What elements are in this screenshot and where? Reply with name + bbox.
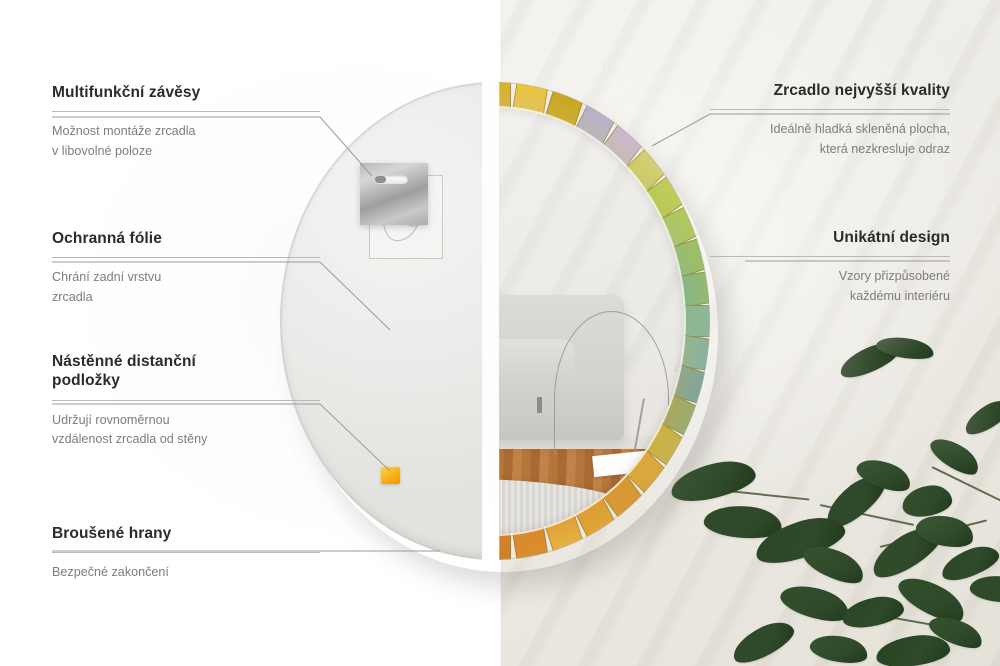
callout-body-line-2: v libovolné poloze xyxy=(52,142,320,162)
callout-body-line-2: vzdálenost zrcadla od stěny xyxy=(52,430,320,450)
callout-body-line-2: každému interiéru xyxy=(710,287,950,307)
callout-body-line-1: Chrání zadní vrstvu xyxy=(52,268,320,288)
callout-title: Ochranná fólie xyxy=(52,229,320,248)
callout-rule xyxy=(52,400,320,401)
callout-title: Zrcadlo nejvyšší kvality xyxy=(710,81,950,100)
wall-hanger-plate-icon xyxy=(360,163,428,225)
hanger-keyhole-slot xyxy=(374,175,408,184)
callout-body-line-1: Bezpečné zakončení xyxy=(52,563,320,583)
callout-title: Unikátní design xyxy=(710,228,950,247)
callout-ground-edges: Broušené hrany Bezpečné zakončení xyxy=(52,524,320,583)
callout-title: Multifunkční závěsy xyxy=(52,83,320,102)
callout-rule xyxy=(52,552,320,553)
callout-protective-foil: Ochranná fólie Chrání zadní vrstvu zrcad… xyxy=(52,229,320,307)
callout-title: Nástěnné distanční podložky xyxy=(52,352,320,391)
infographic-canvas: Multifunkční závěsy Možnost montáže zrca… xyxy=(0,0,1000,666)
callout-body-line-1: Možnost montáže zrcadla xyxy=(52,122,320,142)
callout-body-line-2: zrcadla xyxy=(52,288,320,308)
spacer-pad-icon xyxy=(381,467,400,484)
callout-spacers: Nástěnné distanční podložky Udržují rovn… xyxy=(52,352,320,450)
product-mirror xyxy=(280,82,710,560)
callout-title-line-2: podložky xyxy=(52,372,120,389)
callout-title-line-1: Nástěnné distanční xyxy=(52,353,196,370)
callout-body-line-1: Udržují rovnoměrnou xyxy=(52,411,320,431)
callout-quality-mirror: Zrcadlo nejvyšší kvality Ideálně hladká … xyxy=(710,81,950,159)
callout-unique-design: Unikátní design Vzory přizpůsobené každé… xyxy=(710,228,950,306)
callout-body-line-1: Ideálně hladká skleněná plocha, xyxy=(710,120,950,140)
callout-rule xyxy=(52,257,320,258)
callout-title: Broušené hrany xyxy=(52,524,320,543)
callout-rule xyxy=(52,111,320,112)
callout-hangers: Multifunkční závěsy Možnost montáže zrca… xyxy=(52,83,320,161)
callout-rule xyxy=(710,109,950,110)
callout-body-line-2: která nezkresluje odraz xyxy=(710,140,950,160)
callout-rule xyxy=(710,256,950,257)
callout-body-line-1: Vzory přizpůsobené xyxy=(710,267,950,287)
